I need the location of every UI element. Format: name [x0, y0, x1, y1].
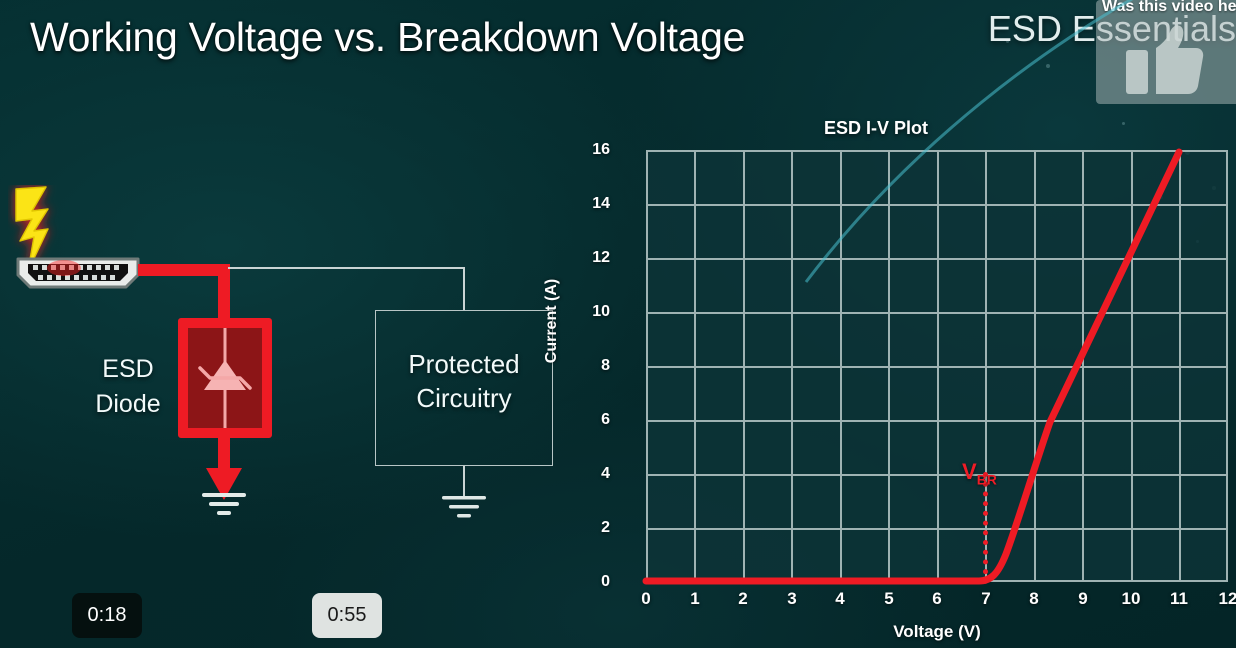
- esd-diode-label-line2: Diode: [82, 387, 174, 422]
- y-tick-label: 4: [576, 465, 610, 483]
- surge-wire-vertical: [218, 264, 230, 324]
- breakdown-voltage-dotted-line: [983, 472, 988, 584]
- x-tick-label: 10: [1113, 589, 1149, 609]
- chart-y-axis-label: Current (A): [543, 279, 561, 363]
- chart-series-layer: [646, 150, 1228, 582]
- y-tick-label: 14: [576, 195, 610, 213]
- protected-circuitry-block: Protected Circuitry: [375, 310, 553, 466]
- thumbs-up-icon[interactable]: [1126, 24, 1204, 96]
- x-tick-label: 1: [677, 589, 713, 609]
- video-survey-overlay[interactable]: Was this video helpful?: [1096, 0, 1236, 104]
- protected-circuitry-label-line2: Circuitry: [376, 381, 552, 415]
- x-tick-label: 11: [1161, 589, 1197, 609]
- chart-title: ESD I-V Plot: [824, 118, 928, 139]
- slide-stage: Working Voltage vs. Breakdown Voltage ES…: [0, 0, 1236, 648]
- survey-question: Was this video helpful?: [1102, 0, 1236, 16]
- y-tick-label: 10: [576, 303, 610, 321]
- y-tick-label: 16: [576, 141, 610, 159]
- breakdown-voltage-annotation: VBR: [962, 459, 997, 487]
- esd-iv-curve: [646, 152, 1179, 581]
- y-tick-label: 8: [576, 357, 610, 375]
- protected-circuitry-label-line1: Protected: [376, 347, 552, 381]
- ground-symbol-icon: [202, 493, 246, 519]
- ground-symbol-icon: [442, 496, 486, 522]
- x-tick-label: 9: [1065, 589, 1101, 609]
- signal-wire-horizontal: [228, 267, 464, 269]
- vbr-main-label: V: [962, 459, 977, 484]
- y-tick-label: 6: [576, 411, 610, 429]
- x-tick-label: 6: [919, 589, 955, 609]
- x-tick-label: 5: [871, 589, 907, 609]
- hdmi-connector-icon: [14, 255, 142, 291]
- slide-title: Working Voltage vs. Breakdown Voltage: [30, 14, 745, 61]
- surge-wire-horizontal: [138, 264, 230, 276]
- vbr-sub-label: BR: [977, 471, 997, 487]
- circuit-diagram: ESD Diode Protected Circuitry: [0, 180, 600, 560]
- signal-wire-vertical: [463, 267, 465, 311]
- y-tick-label: 12: [576, 249, 610, 267]
- zener-diode-icon: [188, 328, 262, 428]
- background-speck: [1046, 64, 1050, 68]
- total-time-chip[interactable]: 0:55: [312, 593, 382, 638]
- current-time-chip[interactable]: 0:18: [72, 593, 142, 638]
- esd-diode-label-line1: ESD: [82, 352, 174, 387]
- x-tick-label: 4: [822, 589, 858, 609]
- x-tick-label: 7: [968, 589, 1004, 609]
- x-tick-label: 8: [1016, 589, 1052, 609]
- esd-diode-label: ESD Diode: [82, 352, 174, 422]
- chart-plot-area: [646, 150, 1228, 582]
- x-tick-label: 2: [725, 589, 761, 609]
- esd-iv-chart: ESD I-V Plot Current (A) 16 14 12 10 8 6…: [576, 105, 1236, 648]
- x-tick-label: 0: [628, 589, 664, 609]
- protected-circuitry-label: Protected Circuitry: [376, 347, 552, 415]
- y-tick-label: 2: [576, 519, 610, 537]
- esd-diode-block: [178, 318, 272, 438]
- x-tick-label: 3: [774, 589, 810, 609]
- y-tick-label: 0: [576, 573, 610, 591]
- chart-x-axis-label: Voltage (V): [646, 622, 1228, 642]
- x-tick-label: 12: [1210, 589, 1236, 609]
- protected-ground-wire: [463, 466, 465, 498]
